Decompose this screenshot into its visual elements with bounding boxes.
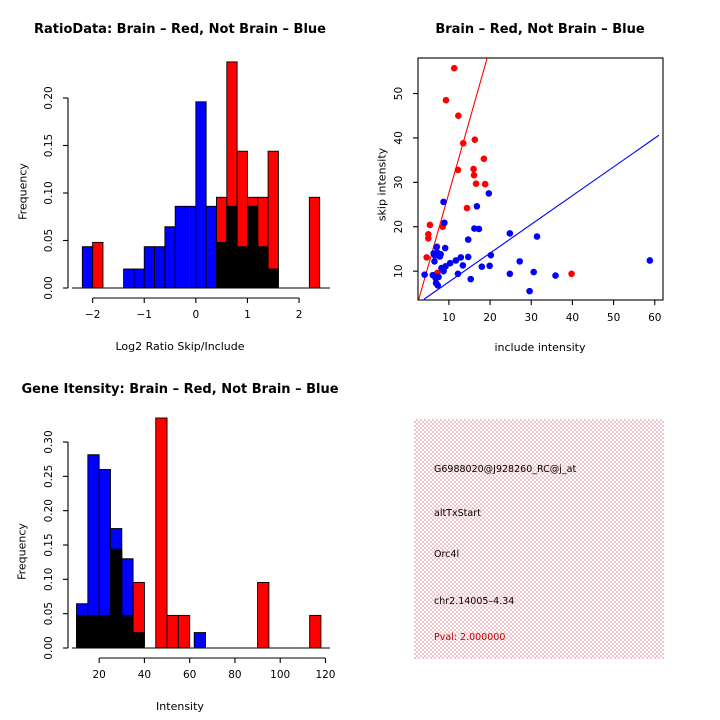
scatter-point bbox=[455, 112, 462, 119]
histogram-bar bbox=[268, 151, 278, 288]
scatter-point bbox=[472, 136, 479, 143]
scatter-point bbox=[464, 205, 471, 212]
scatter-point bbox=[473, 180, 480, 187]
scatter-ytick-label: 30 bbox=[393, 176, 405, 189]
histogram-bar bbox=[155, 247, 165, 288]
scatter-point bbox=[486, 190, 493, 197]
scatter-point bbox=[433, 244, 440, 251]
histogram-bar bbox=[178, 615, 189, 648]
histogram-bar bbox=[216, 197, 226, 288]
ratio-xtick-label: 1 bbox=[244, 309, 251, 321]
gene-ytick-label: 0.25 bbox=[43, 465, 55, 488]
panel-intensity-scatter: Brain – Red, Not Brain – Blue include in… bbox=[360, 0, 720, 360]
ratio-xtick-label: 0 bbox=[192, 309, 199, 321]
scatter-point bbox=[421, 271, 428, 278]
gene-ytick-label: 0.05 bbox=[43, 602, 55, 625]
probe-id-text: G6988020@J928260_RC@j_at bbox=[434, 464, 576, 475]
scatter-point bbox=[486, 263, 493, 270]
histogram-bar bbox=[93, 242, 103, 288]
ratio-ytick-label: 0.15 bbox=[43, 134, 55, 157]
ratio-ytick-label: 0.20 bbox=[43, 86, 55, 109]
gene-histogram-plot: 0.000.050.100.150.200.250.30204060801001… bbox=[0, 360, 360, 720]
scatter-point bbox=[455, 167, 462, 174]
scatter-ytick-label: 20 bbox=[393, 220, 405, 233]
scatter-xtick-label: 40 bbox=[566, 312, 579, 324]
histogram-bar bbox=[196, 102, 206, 288]
scatter-xtick-label: 50 bbox=[607, 312, 620, 324]
histogram-bar bbox=[167, 615, 178, 648]
scatter-point bbox=[434, 282, 441, 289]
gene-xtick-label: 120 bbox=[315, 669, 335, 681]
histogram-bar bbox=[110, 549, 121, 648]
histogram-bar bbox=[133, 582, 144, 648]
scatter-point bbox=[476, 226, 483, 233]
histogram-bar bbox=[309, 197, 319, 288]
scatter-point bbox=[507, 271, 514, 278]
scatter-point bbox=[437, 253, 444, 260]
ratio-histogram-plot: 0.000.050.100.150.20−2−1012 bbox=[0, 0, 360, 360]
gene-xtick-label: 40 bbox=[138, 669, 151, 681]
scatter-point bbox=[443, 97, 450, 104]
ratio-xtick-label: 2 bbox=[296, 309, 303, 321]
scatter-point bbox=[552, 272, 559, 279]
panel-ratio-histogram: RatioData: Brain – Red, Not Brain – Blue… bbox=[0, 0, 360, 360]
scatter-xtick-label: 60 bbox=[648, 312, 661, 324]
ratio-xtick-label: −2 bbox=[85, 309, 100, 321]
histogram-bar bbox=[258, 197, 268, 288]
scatter-point bbox=[453, 257, 460, 264]
scatter-xtick-label: 30 bbox=[525, 312, 538, 324]
gene-xtick-label: 20 bbox=[92, 669, 105, 681]
gene-ytick-label: 0.15 bbox=[43, 533, 55, 556]
gene-bars bbox=[77, 418, 321, 648]
histogram-bar bbox=[247, 197, 257, 288]
scatter-point bbox=[488, 252, 495, 259]
scatter-ytick-label: 10 bbox=[393, 264, 405, 277]
scatter-point bbox=[427, 222, 434, 229]
scatter-point bbox=[441, 219, 448, 226]
scatter-xtick-label: 10 bbox=[442, 312, 455, 324]
scatter-point bbox=[442, 245, 449, 252]
ratio-xtick-label: −1 bbox=[136, 309, 151, 321]
scatter-point bbox=[435, 274, 442, 281]
scatter-point bbox=[568, 271, 575, 278]
scatter-point bbox=[507, 230, 514, 237]
gene-xtick-label: 80 bbox=[228, 669, 241, 681]
histogram-bar bbox=[144, 247, 154, 288]
scatter-point bbox=[474, 203, 481, 210]
ratio-ytick-label: 0.00 bbox=[43, 276, 55, 299]
scatter-frame bbox=[418, 58, 663, 300]
scatter-point bbox=[467, 276, 474, 283]
scatter-plot: 1020304050601020304050 bbox=[360, 0, 720, 360]
scatter-point bbox=[425, 235, 432, 242]
event-type-text: altTxStart bbox=[434, 508, 481, 519]
panel-annotation-info: G6988020@J928260_RC@j_at altTxStart Orc4… bbox=[360, 360, 720, 720]
histogram-bar bbox=[122, 615, 133, 648]
histogram-bar bbox=[258, 582, 269, 648]
scatter-point bbox=[431, 258, 438, 265]
scatter-point bbox=[526, 288, 533, 295]
scatter-series-blue bbox=[421, 190, 653, 294]
figure-canvas: RatioData: Brain – Red, Not Brain – Blue… bbox=[0, 0, 720, 720]
gene-xtick-label: 60 bbox=[183, 669, 196, 681]
scatter-point bbox=[460, 140, 467, 147]
scatter-point bbox=[479, 263, 486, 270]
scatter-point bbox=[481, 155, 488, 162]
histogram-bar bbox=[124, 269, 134, 288]
gene-xtick-label: 100 bbox=[270, 669, 290, 681]
ratio-ytick-label: 0.10 bbox=[43, 181, 55, 204]
scatter-point bbox=[534, 233, 541, 240]
histogram-bar bbox=[227, 62, 237, 288]
histogram-bar bbox=[82, 247, 92, 288]
histogram-bar bbox=[99, 615, 110, 648]
scatter-point bbox=[530, 269, 537, 276]
scatter-ytick-label: 50 bbox=[393, 87, 405, 100]
histogram-bar bbox=[165, 227, 175, 288]
histogram-bar bbox=[134, 269, 144, 288]
scatter-point bbox=[440, 199, 447, 206]
histogram-bar bbox=[237, 151, 247, 288]
scatter-xtick-label: 20 bbox=[483, 312, 496, 324]
scatter-point bbox=[516, 258, 523, 265]
panel-gene-intensity-histogram: Gene Itensity: Brain – Red, Not Brain – … bbox=[0, 360, 360, 720]
scatter-point bbox=[455, 271, 462, 278]
histogram-bar bbox=[206, 206, 216, 288]
scatter-point bbox=[440, 268, 447, 275]
gene-name-text: Orc4l bbox=[434, 549, 459, 560]
pval-text: Pval: 2.000000 bbox=[434, 632, 505, 643]
scatter-point bbox=[471, 172, 478, 179]
ratio-ytick-label: 0.05 bbox=[43, 229, 55, 252]
scatter-ytick-label: 40 bbox=[393, 131, 405, 144]
info-panel-background bbox=[414, 419, 664, 659]
scatter-point bbox=[451, 65, 458, 72]
scatter-point bbox=[465, 236, 472, 243]
gene-ytick-label: 0.20 bbox=[43, 499, 55, 522]
scatter-point bbox=[482, 181, 489, 188]
scatter-point bbox=[465, 254, 472, 261]
histogram-bar bbox=[310, 615, 321, 648]
ratio-bars bbox=[82, 62, 319, 288]
gene-ytick-label: 0.30 bbox=[43, 430, 55, 453]
scatter-point bbox=[423, 254, 430, 261]
scatter-point bbox=[647, 257, 654, 264]
scatter-content bbox=[419, 58, 659, 299]
gene-ytick-label: 0.00 bbox=[43, 636, 55, 659]
histogram-bar bbox=[88, 615, 99, 648]
scatter-point bbox=[470, 166, 477, 173]
scatter-point bbox=[460, 262, 467, 269]
locus-text: chr2.14005–4.34 bbox=[434, 596, 514, 607]
histogram-bar bbox=[175, 206, 185, 288]
gene-ytick-label: 0.10 bbox=[43, 568, 55, 591]
histogram-bar bbox=[77, 615, 88, 648]
histogram-bar bbox=[194, 633, 205, 648]
histogram-bar bbox=[156, 418, 167, 648]
histogram-bar bbox=[186, 206, 196, 288]
